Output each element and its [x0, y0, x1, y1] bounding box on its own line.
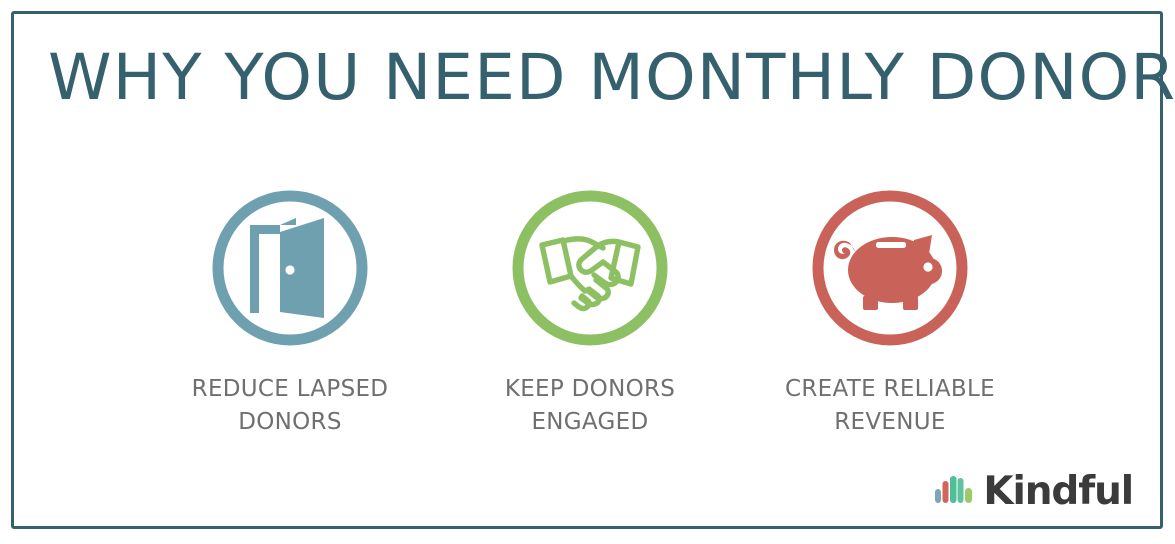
benefit-card-list: REDUCE LAPSED DONORS: [140, 178, 1040, 440]
kindful-wordmark: Kindful: [983, 472, 1133, 511]
page-title: WHY YOU NEED MONTHLY DONORS: [48, 46, 1160, 109]
benefit-card-reduce-lapsed-donors: REDUCE LAPSED DONORS: [140, 178, 440, 440]
benefit-card-label-line1: CREATE RELIABLE: [785, 373, 995, 406]
benefit-card-label: KEEP DONORS ENGAGED: [505, 373, 675, 440]
kindful-brand-lockup: Kindful: [934, 472, 1133, 511]
piggy-bank-icon: [800, 178, 980, 358]
benefit-card-label-line2: ENGAGED: [505, 406, 675, 439]
infographic-canvas: WHY YOU NEED MONTHLY DONORS: [0, 0, 1175, 544]
benefit-card-label-line2: REVENUE: [785, 406, 995, 439]
benefit-card-label: REDUCE LAPSED DONORS: [192, 373, 389, 440]
benefit-card-label-line1: REDUCE LAPSED: [192, 373, 389, 406]
benefit-card-create-reliable-revenue: CREATE RELIABLE REVENUE: [740, 178, 1040, 440]
benefit-card-label-line2: DONORS: [192, 406, 389, 439]
benefit-card-label: CREATE RELIABLE REVENUE: [785, 373, 995, 440]
benefit-card-keep-donors-engaged: KEEP DONORS ENGAGED: [440, 178, 740, 440]
benefit-card-label-line1: KEEP DONORS: [505, 373, 675, 406]
handshake-icon: [500, 178, 680, 358]
kindful-bars-logo: [934, 474, 974, 509]
open-door-icon: [200, 178, 380, 358]
